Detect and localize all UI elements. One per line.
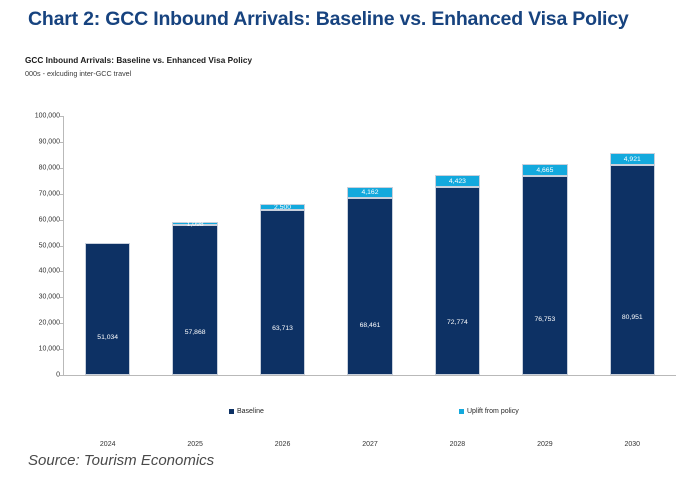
y-axis-tick-label: 0: [6, 372, 60, 379]
x-axis-line: [63, 375, 676, 376]
bar-segment-baseline[interactable]: [85, 243, 130, 375]
bar-group[interactable]: 57,8681,0982025: [172, 116, 217, 375]
bar-group[interactable]: 51,0342024: [85, 116, 130, 375]
source-note: Source: Tourism Economics: [28, 452, 214, 469]
bar-value-label-uplift: 4,665: [522, 167, 567, 174]
x-axis-tick-label: 2024: [85, 441, 130, 448]
bar-value-label-uplift: 1,098: [172, 221, 217, 228]
x-axis-tick-label: 2029: [522, 441, 567, 448]
bar-group[interactable]: 72,7744,4232028: [435, 116, 480, 375]
plot-area: 100,00090,00080,00070,00060,00050,00040,…: [0, 56, 699, 431]
x-axis-tick-label: 2027: [347, 441, 392, 448]
legend-swatch-icon: [229, 409, 234, 414]
legend-label: Uplift from policy: [467, 408, 519, 415]
y-axis-tick-label: 30,000: [6, 294, 60, 301]
x-axis-tick-label: 2030: [610, 441, 655, 448]
bar-value-label-baseline: 76,753: [522, 316, 567, 323]
y-axis-tick-label: 20,000: [6, 320, 60, 327]
bar-segment-baseline[interactable]: [347, 198, 392, 375]
x-axis-tick-label: 2026: [260, 441, 305, 448]
legend-swatch-icon: [459, 409, 464, 414]
y-axis-tick-label: 70,000: [6, 190, 60, 197]
bar-value-label-baseline: 72,774: [435, 319, 480, 326]
bar-segment-baseline[interactable]: [610, 165, 655, 375]
bar-group[interactable]: 63,7132,5002026: [260, 116, 305, 375]
y-axis-tick-label: 90,000: [6, 138, 60, 145]
bar-group[interactable]: 68,4614,1622027: [347, 116, 392, 375]
y-axis-tick-label: 50,000: [6, 242, 60, 249]
bar-segment-baseline[interactable]: [172, 225, 217, 375]
page-title: Chart 2: GCC Inbound Arrivals: Baseline …: [28, 8, 629, 31]
chart-container: GCC Inbound Arrivals: Baseline vs. Enhan…: [0, 56, 699, 431]
bar-value-label-baseline: 63,713: [260, 325, 305, 332]
y-axis-tick-label: 100,000: [6, 113, 60, 120]
y-axis-tick-label: 80,000: [6, 164, 60, 171]
bar-value-label-uplift: 4,423: [435, 178, 480, 185]
y-axis-tick-label: 40,000: [6, 268, 60, 275]
bar-value-label-uplift: 4,921: [610, 156, 655, 163]
x-axis-tick-label: 2028: [435, 441, 480, 448]
bar-value-label-baseline: 51,034: [85, 334, 130, 341]
bar-segment-baseline[interactable]: [435, 187, 480, 375]
chart-legend: BaselineUplift from policy: [64, 408, 676, 424]
bar-value-label-uplift: 4,162: [347, 189, 392, 196]
y-axis: 100,00090,00080,00070,00060,00050,00040,…: [0, 56, 60, 431]
legend-item[interactable]: Baseline: [229, 408, 264, 415]
y-axis-tick-label: 10,000: [6, 346, 60, 353]
bar-series-group: 51,034202457,8681,098202563,7132,5002026…: [64, 116, 676, 375]
legend-item[interactable]: Uplift from policy: [459, 408, 519, 415]
bar-group[interactable]: 76,7534,6652029: [522, 116, 567, 375]
bar-group[interactable]: 80,9514,9212030: [610, 116, 655, 375]
bar-value-label-uplift: 2,500: [260, 204, 305, 211]
bar-value-label-baseline: 80,951: [610, 314, 655, 321]
bar-value-label-baseline: 57,868: [172, 329, 217, 336]
y-axis-tick-label: 60,000: [6, 216, 60, 223]
x-axis-tick-label: 2025: [172, 441, 217, 448]
bar-segment-baseline[interactable]: [260, 210, 305, 375]
bar-segment-baseline[interactable]: [522, 176, 567, 375]
bar-value-label-baseline: 68,461: [347, 322, 392, 329]
legend-label: Baseline: [237, 408, 264, 415]
